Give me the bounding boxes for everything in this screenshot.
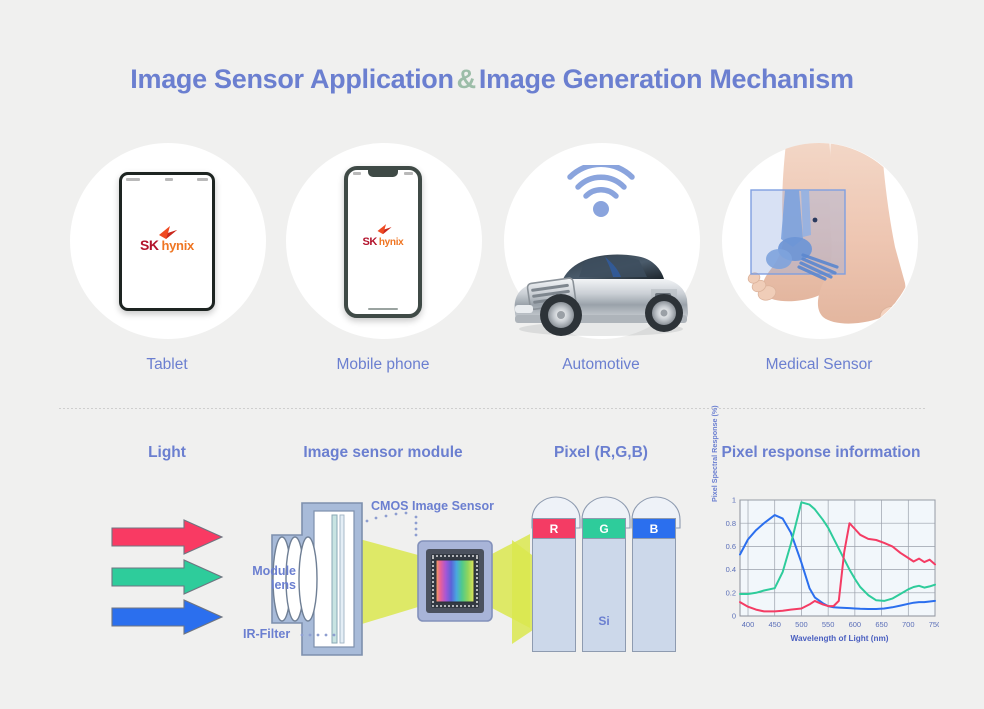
sk-wordmark: SK (363, 236, 377, 248)
color-filter-green: G (583, 519, 625, 539)
sk-hynix-wing-icon (376, 224, 393, 235)
app-label-medical: Medical Sensor (719, 356, 919, 374)
red-light-arrow (112, 520, 222, 554)
app-card-medical[interactable]: Medical Sensor (719, 143, 919, 383)
hynix-wordmark: hynix (161, 238, 193, 253)
tablet-statusbar (126, 177, 208, 182)
svg-text:500: 500 (795, 620, 808, 629)
phone-home-indicator (368, 308, 398, 310)
infographic-page: Image Sensor Application&Image Generatio… (0, 0, 984, 709)
sk-hynix-wing-icon (157, 226, 179, 240)
module-lens-line-1: Module (252, 564, 296, 578)
svg-text:750: 750 (929, 620, 939, 629)
tablet-device: SKhynix (119, 172, 215, 311)
svg-text:0.2: 0.2 (726, 588, 736, 597)
mechanism-label-module: Image sensor module (283, 444, 483, 462)
hynix-wordmark: hynix (379, 237, 404, 248)
chart-plot-area: 40045050055060065070075000.20.40.60.81 (714, 492, 939, 642)
svg-text:1: 1 (732, 496, 736, 505)
sensor-module-diagram: CMOS Image Sensor Module lens IR-Filter (240, 489, 530, 664)
pixel-column-green: G Si (582, 518, 626, 652)
cmos-leader-dots (366, 512, 418, 537)
app-label-tablet: Tablet (67, 356, 267, 374)
ir-filter-plate-2 (340, 515, 344, 643)
car-illustration (501, 227, 701, 339)
ir-filter-label: IR-Filter (243, 627, 290, 641)
feet-photo-illustration (719, 143, 919, 339)
light-arrows-group (110, 518, 240, 638)
mechanism-label-response: Pixel response information (719, 444, 923, 462)
chart-y-axis-label: Pixel Spectral Response (%) (710, 392, 719, 502)
applications-row: SKhynix Tablet (0, 143, 984, 383)
mechanism-label-light: Light (67, 444, 267, 462)
title-part-2: Image Generation Mechanism (479, 64, 854, 94)
module-lens-line-2: lens (271, 578, 296, 592)
phone-device: SKhynix (344, 166, 422, 318)
sk-hynix-logo: SKhynix (140, 237, 194, 255)
app-label-mobile: Mobile phone (283, 356, 483, 374)
svg-text:650: 650 (875, 620, 888, 629)
svg-text:0: 0 (732, 612, 736, 621)
svg-text:550: 550 (822, 620, 835, 629)
app-card-mobile[interactable]: SKhynix Mobile phone (283, 143, 483, 383)
sk-hynix-logo: SKhynix (363, 232, 404, 250)
pixel-rgb-diagram: R G Si B (530, 492, 690, 667)
svg-text:450: 450 (768, 620, 781, 629)
module-lens-label: Module lens (240, 564, 296, 592)
silicon-substrate-label: Si (583, 614, 625, 628)
cmos-image-sensor-label: CMOS Image Sensor (371, 499, 494, 513)
title-ampersand: & (454, 64, 479, 94)
blue-light-arrow (112, 600, 222, 634)
svg-text:400: 400 (742, 620, 755, 629)
mechanism-row: Light Image sensor module Pixel (R,G,B) … (0, 444, 984, 664)
phone-statusbar (353, 171, 413, 176)
sk-wordmark: SK (140, 237, 158, 253)
spectral-response-chart: Pixel Spectral Response (%) Wavelength o… (714, 492, 939, 657)
app-card-tablet[interactable]: SKhynix Tablet (67, 143, 267, 383)
color-filter-red: R (533, 519, 575, 539)
svg-text:0.6: 0.6 (726, 542, 736, 551)
page-title: Image Sensor Application&Image Generatio… (0, 64, 984, 95)
wifi-signal-icon (564, 165, 638, 217)
pixel-column-red: R (532, 518, 576, 652)
svg-text:700: 700 (902, 620, 915, 629)
mechanism-label-pixel: Pixel (R,G,B) (501, 444, 701, 462)
color-filter-blue: B (633, 519, 675, 539)
pixel-column-blue: B (632, 518, 676, 652)
title-part-1: Image Sensor Application (130, 64, 453, 94)
app-card-automotive[interactable]: Automotive (501, 143, 701, 383)
green-light-arrow (112, 560, 222, 594)
svg-text:0.4: 0.4 (726, 565, 736, 574)
svg-text:0.8: 0.8 (726, 519, 736, 528)
app-label-automotive: Automotive (501, 356, 701, 374)
section-divider (58, 408, 926, 409)
cmos-die (436, 560, 474, 602)
svg-text:600: 600 (849, 620, 862, 629)
ir-filter-plate (332, 515, 337, 643)
